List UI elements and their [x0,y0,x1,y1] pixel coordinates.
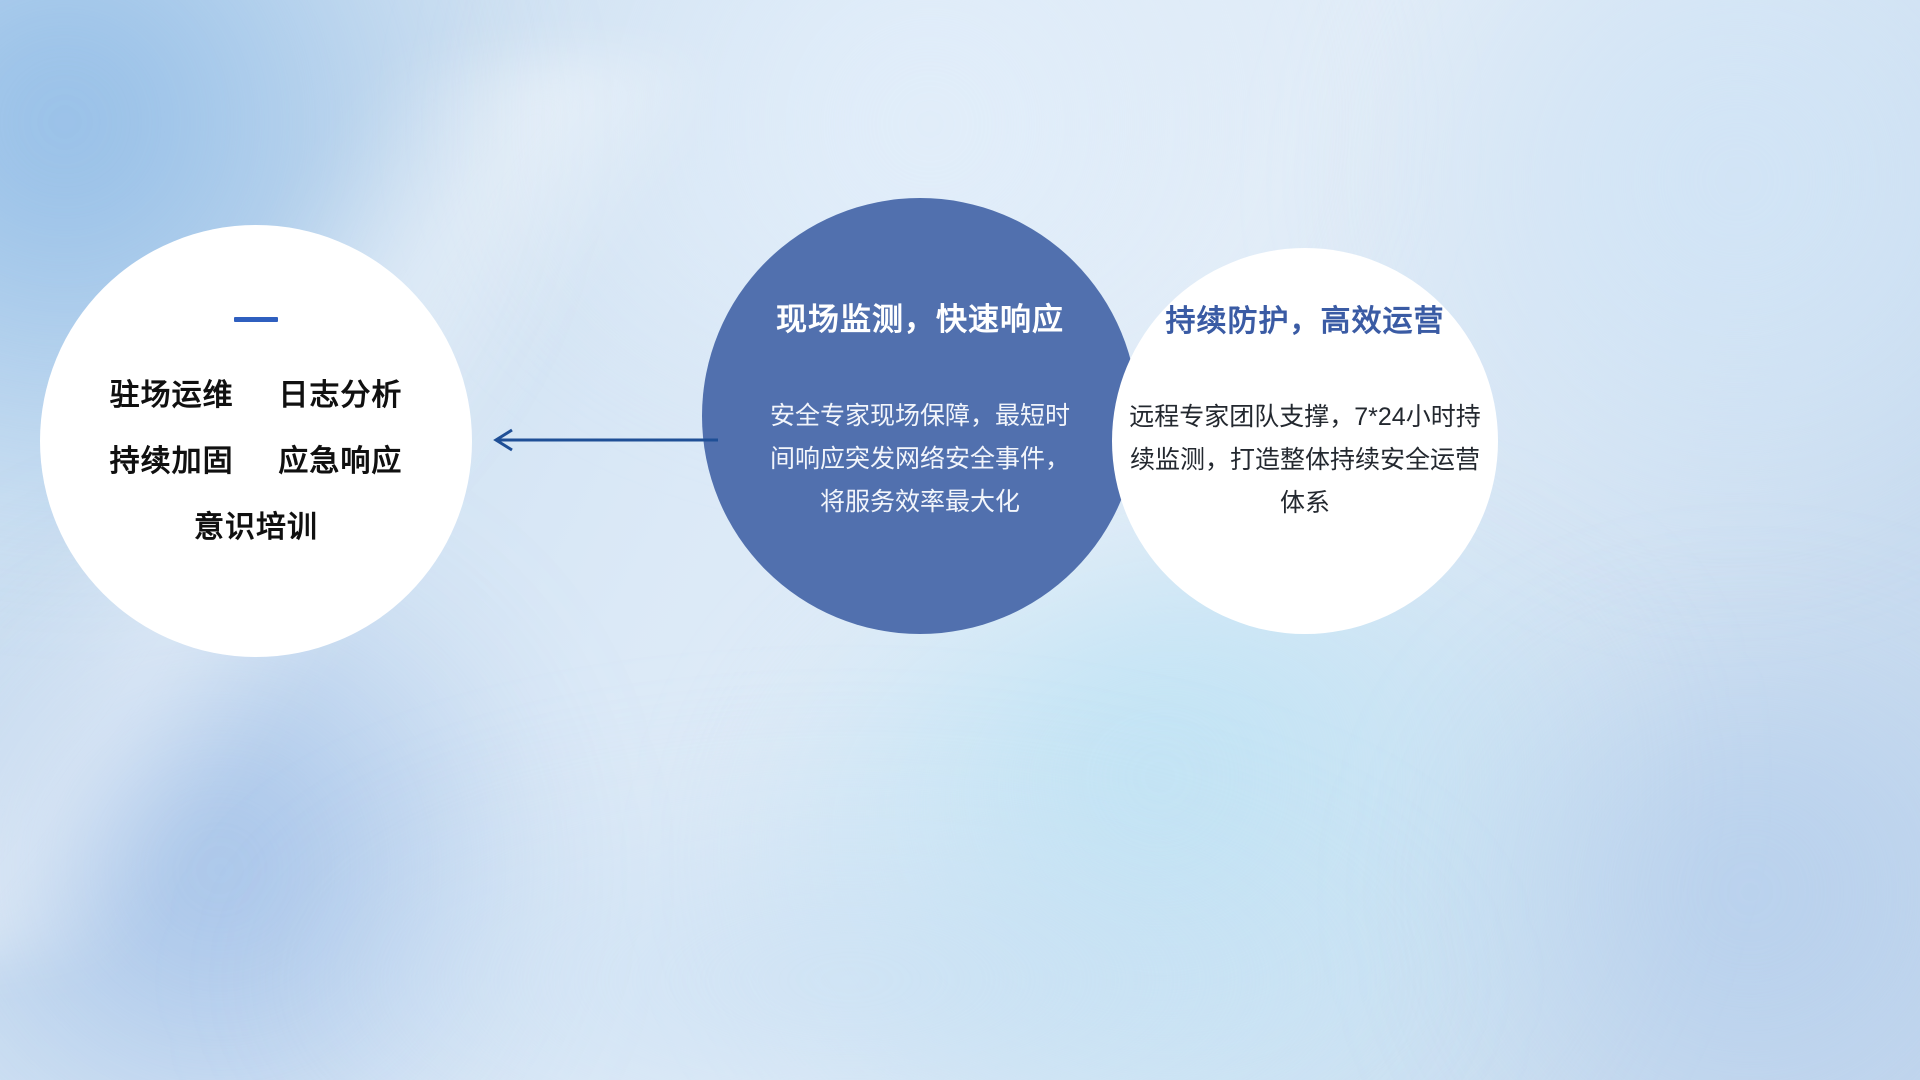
right-circle-content: 持续防护，高效运营 远程专家团队支撑，7*24小时持续监测，打造整体持续安全运营… [1112,248,1498,634]
flow-arrow-icon [480,424,720,456]
title-divider [234,317,278,322]
right-circle-body: 远程专家团队支撑，7*24小时持续监测，打造整体持续安全运营体系 [1121,396,1489,525]
middle-circle-body: 安全专家现场保障，最短时间响应突发网络安全事件，将服务效率最大化 [770,395,1070,524]
diagram-canvas: 驻场运维 日志分析 持续加固 应急响应 意识培训 现场监测，快速响应 安全专家现… [0,0,1920,1080]
middle-circle-content: 现场监测，快速响应 安全专家现场保障，最短时间响应突发网络安全事件，将服务效率最… [702,198,1138,634]
left-tag-3: 持续加固 [110,445,234,478]
left-tag-1: 驻场运维 [110,379,234,412]
right-circle-heading: 持续防护，高效运营 [1166,296,1445,340]
left-circle-row-1: 驻场运维 日志分析 [110,370,403,414]
background-blob-7 [250,770,1450,1080]
background-blob-4 [760,560,1760,1080]
left-circle-row-3: 意识培训 [194,502,318,546]
left-tag-2: 日志分析 [278,379,402,412]
middle-circle-heading: 现场监测，快速响应 [776,294,1064,339]
background-blob-6 [1400,640,1920,1080]
left-circle-content: 驻场运维 日志分析 持续加固 应急响应 意识培训 [40,225,472,657]
left-tag-4: 应急响应 [278,445,402,478]
left-circle-row-2: 持续加固 应急响应 [110,436,403,480]
